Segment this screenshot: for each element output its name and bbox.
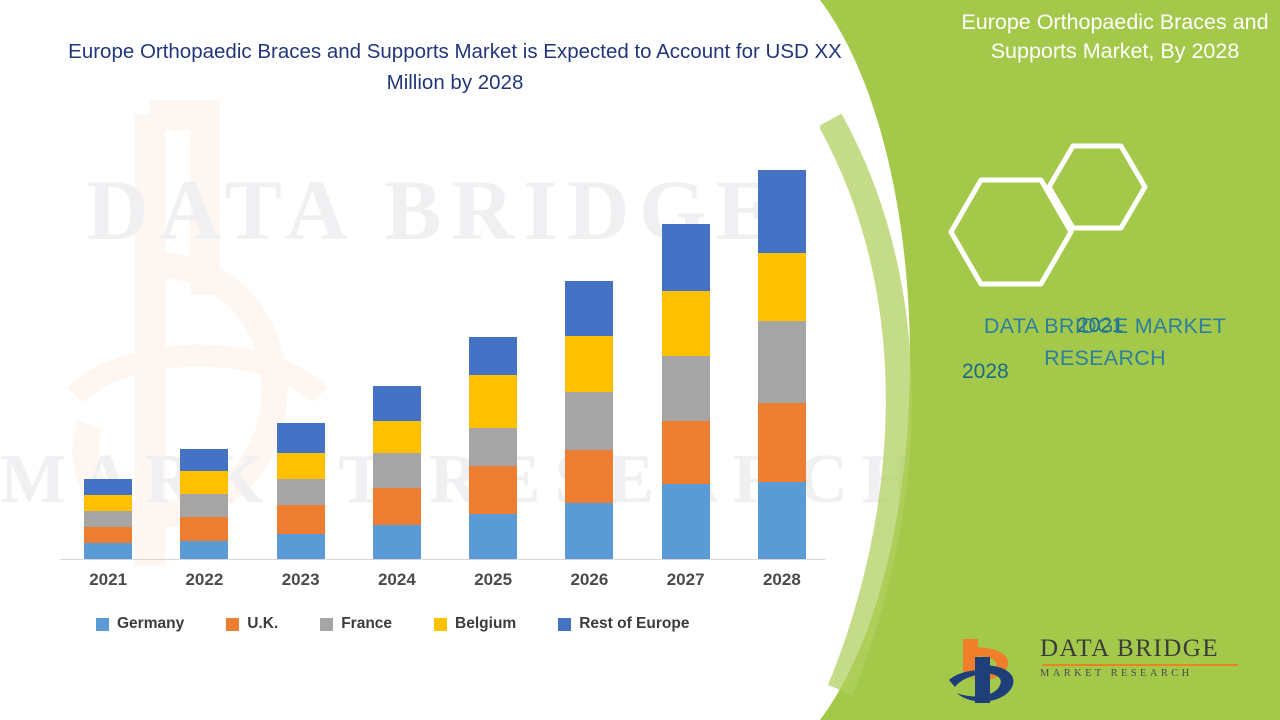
bar-segment — [373, 386, 421, 421]
bar-segment — [758, 321, 806, 403]
green-side-panel: Europe Orthopaedic Braces and Supports M… — [820, 0, 1280, 720]
infographic-root: DATA BRIDGE MARKET RESEARCH Europe Ortho… — [0, 0, 1280, 720]
chart-legend: GermanyU.K.FranceBelgiumRest of Europe — [96, 615, 796, 633]
stacked-bar — [758, 170, 806, 560]
bar-segment — [662, 356, 710, 420]
bar-segment — [84, 543, 132, 560]
panel-brand-name: DATA BRIDGE MARKET RESEARCH — [955, 310, 1255, 374]
stacked-bar — [180, 449, 228, 560]
x-axis-tick: 2026 — [541, 570, 637, 590]
bar-segment — [84, 479, 132, 495]
x-axis-labels: 20212022202320242025202620272028 — [60, 570, 830, 590]
legend-label: Belgium — [455, 615, 516, 633]
bar-segment — [469, 514, 517, 560]
bar-segment — [277, 505, 325, 533]
bar-column — [156, 170, 252, 560]
bar-segment — [84, 511, 132, 527]
hexagon-pair: 2021 2028 — [925, 140, 1175, 300]
bar-segment — [180, 541, 228, 561]
x-axis-tick: 2027 — [638, 570, 734, 590]
bar-segment — [180, 449, 228, 471]
bar-segment — [662, 421, 710, 484]
legend-item[interactable]: U.K. — [226, 615, 278, 633]
bar-segment — [469, 375, 517, 429]
logo-primary-text: DATA BRIDGE — [1040, 635, 1250, 663]
bar-segment — [662, 484, 710, 560]
bar-segment — [180, 471, 228, 493]
legend-item[interactable]: France — [320, 615, 392, 633]
stacked-bar — [662, 224, 710, 560]
chart-plot-area — [60, 170, 830, 560]
legend-label: France — [341, 615, 392, 633]
legend-swatch-icon — [96, 618, 109, 631]
bar-column — [253, 170, 349, 560]
stacked-bar — [373, 386, 421, 560]
bar-segment — [180, 494, 228, 517]
logo-divider — [1042, 664, 1238, 666]
bar-segment — [84, 495, 132, 512]
x-axis-tick: 2021 — [60, 570, 156, 590]
x-axis-tick: 2028 — [734, 570, 830, 590]
stacked-bar — [277, 423, 325, 560]
x-axis-tick: 2024 — [349, 570, 445, 590]
bar-segment — [469, 337, 517, 375]
green-panel-content: Europe Orthopaedic Braces and Supports M… — [820, 0, 1280, 720]
x-axis-line — [60, 559, 825, 560]
legend-item[interactable]: Rest of Europe — [558, 615, 689, 633]
logo-secondary-text: MARKET RESEARCH — [1040, 668, 1250, 679]
x-axis-tick: 2025 — [445, 570, 541, 590]
bar-segment — [758, 253, 806, 321]
legend-item[interactable]: Belgium — [434, 615, 516, 633]
bar-segment — [758, 482, 806, 560]
legend-swatch-icon — [226, 618, 239, 631]
bar-segment — [565, 281, 613, 336]
bar-segment — [180, 517, 228, 540]
x-axis-tick: 2022 — [156, 570, 252, 590]
bar-segment — [662, 291, 710, 356]
bar-group — [60, 170, 830, 560]
bar-column — [638, 170, 734, 560]
bar-segment — [565, 392, 613, 450]
legend-swatch-icon — [558, 618, 571, 631]
bar-segment — [565, 450, 613, 504]
panel-title: Europe Orthopaedic Braces and Supports M… — [960, 8, 1270, 66]
bar-segment — [373, 453, 421, 488]
bar-segment — [758, 170, 806, 253]
bar-segment — [84, 527, 132, 544]
bar-segment — [277, 479, 325, 505]
bar-segment — [277, 423, 325, 453]
logo-text-block: DATA BRIDGE MARKET RESEARCH — [1040, 635, 1250, 679]
hexagon-shapes — [925, 140, 1175, 300]
bar-segment — [469, 428, 517, 466]
bar-column — [541, 170, 637, 560]
bar-segment — [373, 525, 421, 560]
legend-item[interactable]: Germany — [96, 615, 184, 633]
bar-segment — [277, 453, 325, 479]
bar-segment — [758, 403, 806, 482]
legend-swatch-icon — [320, 618, 333, 631]
x-axis-tick: 2023 — [253, 570, 349, 590]
stacked-bar — [565, 281, 613, 560]
bar-segment — [662, 224, 710, 291]
bar-segment — [565, 336, 613, 393]
stacked-bar — [469, 337, 517, 560]
stacked-bar — [84, 479, 132, 560]
company-logo: DATA BRIDGE MARKET RESEARCH — [945, 635, 1250, 707]
page-title: Europe Orthopaedic Braces and Supports M… — [60, 36, 850, 98]
bar-column — [734, 170, 830, 560]
bar-segment — [469, 466, 517, 514]
legend-label: Rest of Europe — [579, 615, 689, 633]
legend-label: U.K. — [247, 615, 278, 633]
legend-swatch-icon — [434, 618, 447, 631]
bar-column — [445, 170, 541, 560]
bar-segment — [373, 488, 421, 525]
logo-db-monogram-icon — [945, 635, 1037, 707]
bar-column — [349, 170, 445, 560]
bar-segment — [277, 534, 325, 560]
bar-segment — [565, 503, 613, 560]
bar-column — [60, 170, 156, 560]
bar-segment — [373, 421, 421, 453]
legend-label: Germany — [117, 615, 184, 633]
